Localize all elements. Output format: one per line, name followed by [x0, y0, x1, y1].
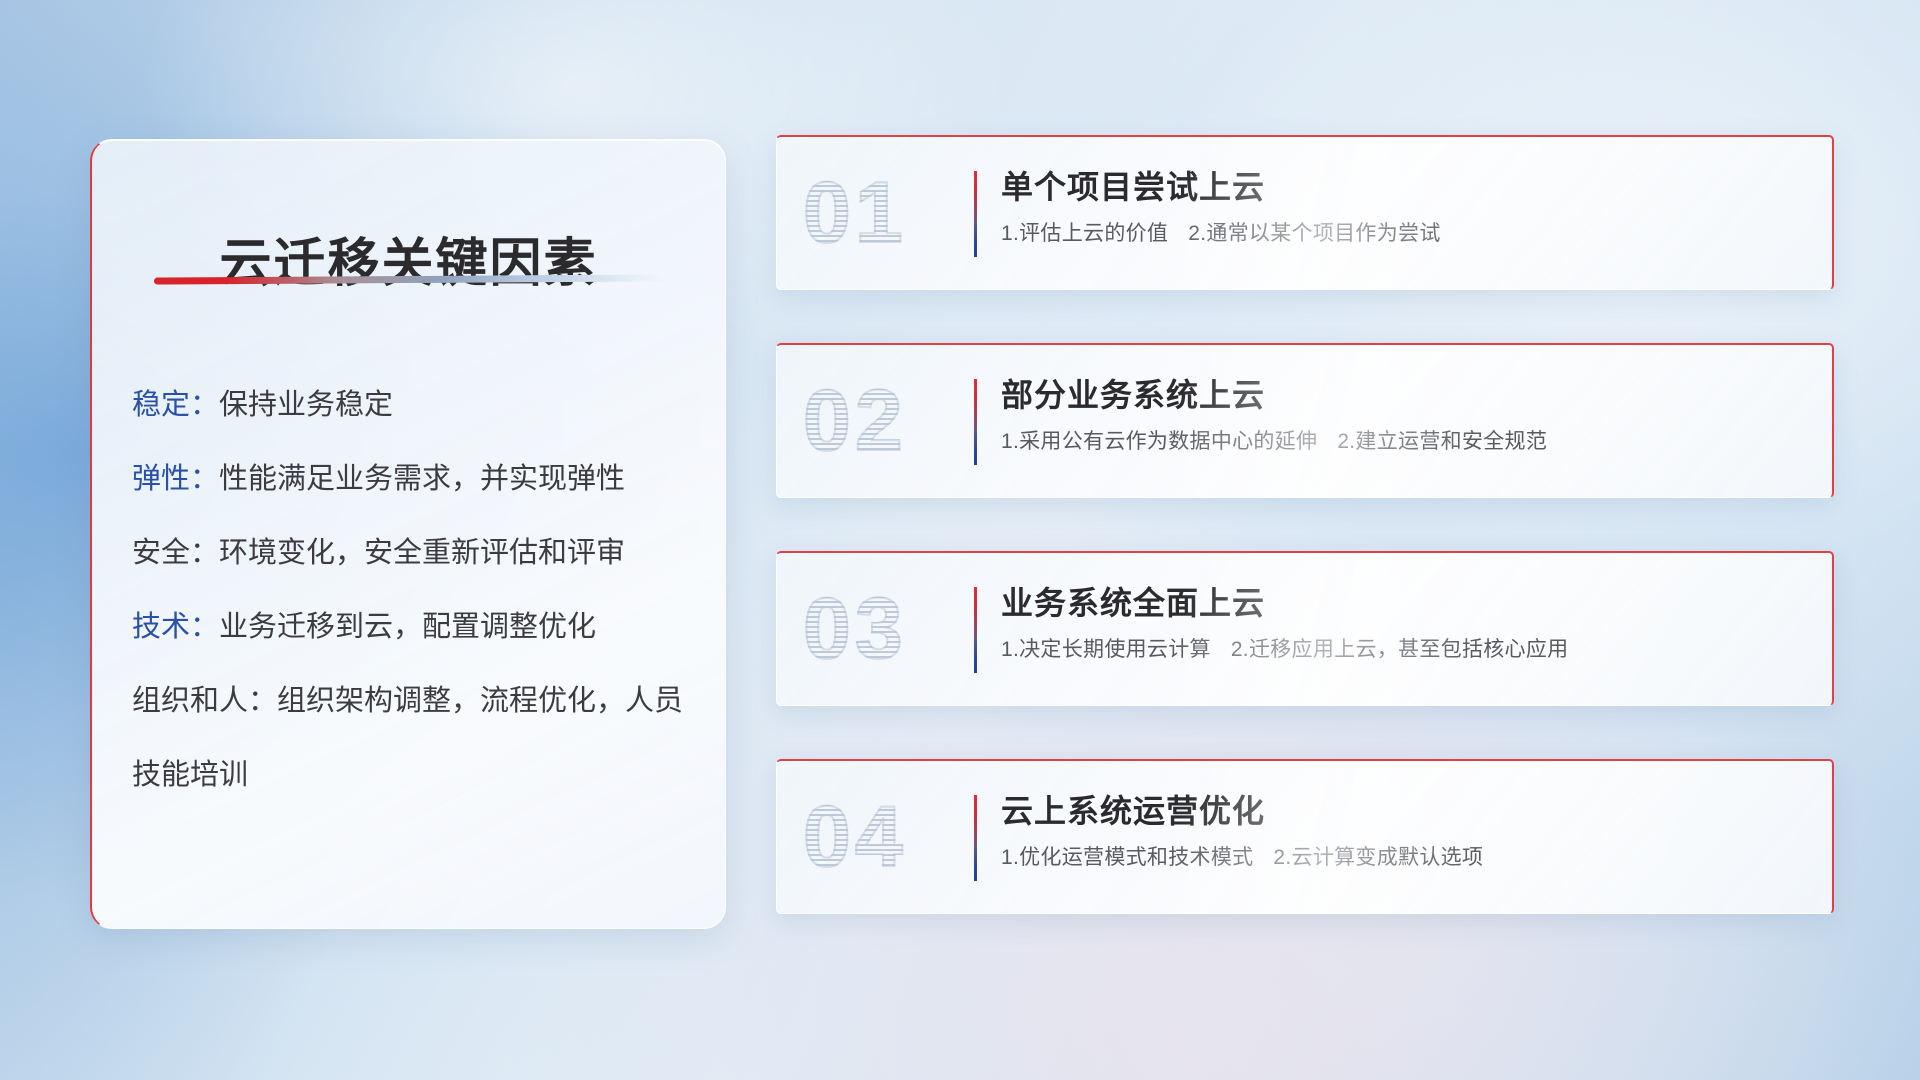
stage-divider-02: [974, 379, 977, 465]
slide-canvas: 云迁移关键因素 稳定：保持业务稳定 弹性：性能满足业务需求，并实现弹性 安全：环…: [0, 0, 1920, 1080]
factor-text-stability: 保持业务稳定: [219, 389, 393, 421]
stage-body-04: 云上系统运营优化 1.优化运营模式和技术模式2.云计算变成默认选项: [1001, 791, 1806, 871]
stage-number-04: 04: [803, 794, 907, 880]
factor-label-organization: 组织和人：: [132, 685, 277, 717]
key-factors-panel: 云迁移关键因素 稳定：保持业务稳定 弹性：性能满足业务需求，并实现弹性 安全：环…: [90, 139, 726, 929]
stage-title-01: 单个项目尝试上云: [1001, 167, 1806, 207]
stage-card-list: 01 单个项目尝试上云 1.评估上云的价值2.通常以某个项目作为尝试 02 部分…: [776, 135, 1834, 967]
stage-card-03[interactable]: 03 业务系统全面上云 1.决定长期使用云计算2.迁移应用上云，甚至包括核心应用: [776, 551, 1834, 706]
page-title: 云迁移关键因素: [92, 221, 725, 296]
stage-desc-01-item-1: 1.评估上云的价值: [1001, 222, 1168, 245]
stage-desc-01: 1.评估上云的价值2.通常以某个项目作为尝试: [1001, 220, 1806, 247]
stage-desc-04-item-1: 1.优化运营模式和技术模式: [1001, 846, 1253, 869]
stage-desc-02-item-1: 1.采用公有云作为数据中心的延伸: [1001, 430, 1317, 453]
factor-label-stability: 稳定：: [132, 389, 219, 421]
stage-number-02: 02: [803, 378, 907, 464]
factor-text-elasticity: 性能满足业务需求，并实现弹性: [219, 463, 625, 495]
stage-desc-02-item-2: 2.建立运营和安全规范: [1337, 430, 1547, 453]
stage-number-03: 03: [803, 586, 907, 672]
factor-label-security: 安全：: [132, 537, 219, 569]
stage-desc-03-item-1: 1.决定长期使用云计算: [1001, 638, 1211, 661]
stage-desc-03-item-2: 2.迁移应用上云，甚至包括核心应用: [1231, 638, 1569, 661]
stage-body-01: 单个项目尝试上云 1.评估上云的价值2.通常以某个项目作为尝试: [1001, 167, 1806, 247]
stage-desc-03: 1.决定长期使用云计算2.迁移应用上云，甚至包括核心应用: [1001, 636, 1806, 663]
stage-card-04[interactable]: 04 云上系统运营优化 1.优化运营模式和技术模式2.云计算变成默认选项: [776, 759, 1834, 914]
stage-desc-04-item-2: 2.云计算变成默认选项: [1273, 846, 1483, 869]
stage-body-02: 部分业务系统上云 1.采用公有云作为数据中心的延伸2.建立运营和安全规范: [1001, 375, 1806, 455]
factor-item-organization: 组织和人：组织架构调整，流程优化，人员技能培训: [132, 664, 701, 812]
factor-text-security: 环境变化，安全重新评估和评审: [219, 537, 625, 569]
factor-item-technology: 技术：业务迁移到云，配置调整优化: [132, 590, 701, 664]
stage-divider-03: [974, 587, 977, 673]
factor-item-security: 安全：环境变化，安全重新评估和评审: [132, 516, 701, 590]
stage-title-03: 业务系统全面上云: [1001, 583, 1806, 623]
stage-desc-04: 1.优化运营模式和技术模式2.云计算变成默认选项: [1001, 844, 1806, 871]
stage-title-04: 云上系统运营优化: [1001, 791, 1806, 831]
factor-label-technology: 技术：: [132, 611, 219, 643]
stage-desc-02: 1.采用公有云作为数据中心的延伸2.建立运营和安全规范: [1001, 428, 1806, 455]
factor-item-elasticity: 弹性：性能满足业务需求，并实现弹性: [132, 442, 701, 516]
factor-list: 稳定：保持业务稳定 弹性：性能满足业务需求，并实现弹性 安全：环境变化，安全重新…: [132, 368, 701, 812]
factor-label-elasticity: 弹性：: [132, 463, 219, 495]
stage-divider-04: [974, 795, 977, 881]
factor-item-stability: 稳定：保持业务稳定: [132, 368, 701, 442]
stage-title-02: 部分业务系统上云: [1001, 375, 1806, 415]
stage-body-03: 业务系统全面上云 1.决定长期使用云计算2.迁移应用上云，甚至包括核心应用: [1001, 583, 1806, 663]
stage-number-01: 01: [803, 170, 907, 256]
stage-card-02[interactable]: 02 部分业务系统上云 1.采用公有云作为数据中心的延伸2.建立运营和安全规范: [776, 343, 1834, 498]
stage-desc-01-item-2: 2.通常以某个项目作为尝试: [1188, 222, 1440, 245]
factor-text-technology: 业务迁移到云，配置调整优化: [219, 611, 596, 643]
stage-card-01[interactable]: 01 单个项目尝试上云 1.评估上云的价值2.通常以某个项目作为尝试: [776, 135, 1834, 290]
stage-divider-01: [974, 171, 977, 257]
